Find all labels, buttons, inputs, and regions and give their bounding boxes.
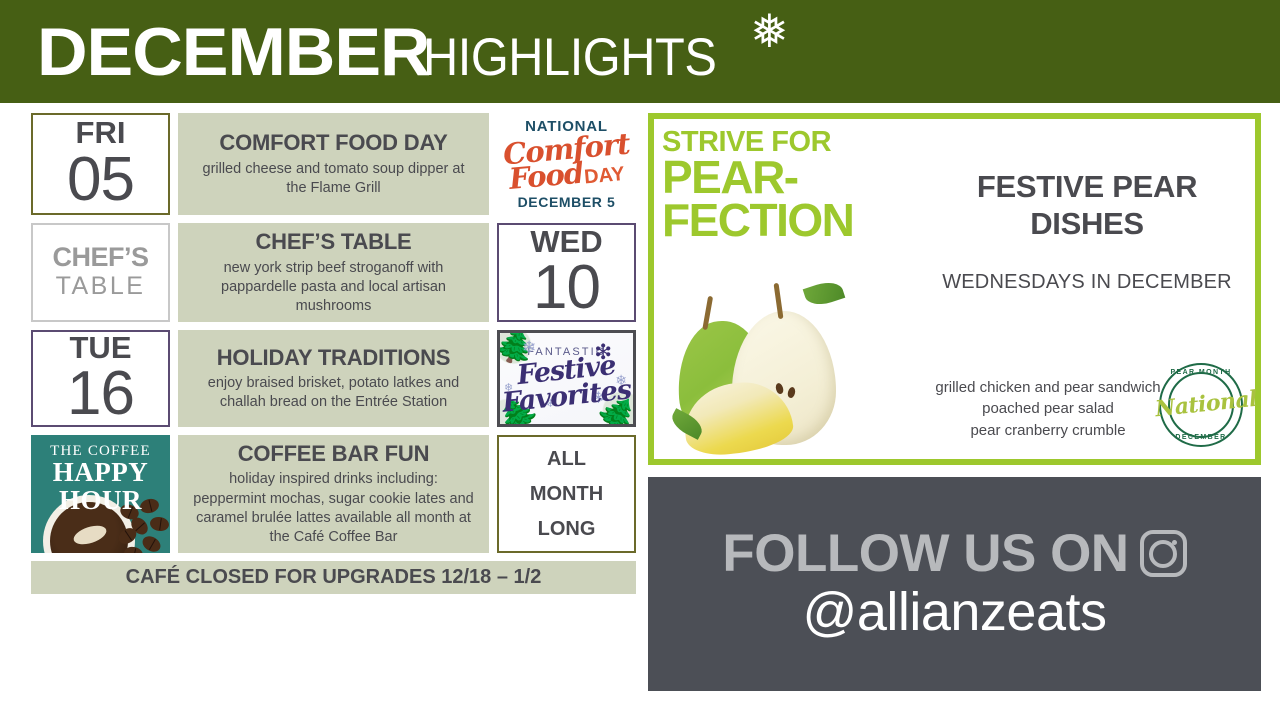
event-art-tile: THE COFFEE HAPPY HOUR <box>31 435 170 553</box>
event-art-tile: 🌲 🌲 🌲 ❄ ❇ ❄ ❄ ❄ ❄ FANTASTIC Festive Favo… <box>497 330 636 427</box>
event-title: COMFORT FOOD DAY <box>219 130 447 155</box>
logo-date-line: DECEMBER 5 <box>518 195 616 209</box>
all-month-line2: MONTH <box>530 477 603 512</box>
all-month-line1: ALL <box>547 442 586 477</box>
event-date-box: TUE 16 <box>31 330 170 427</box>
events-grid: FRI 05 COMFORT FOOD DAY grilled cheese a… <box>31 113 636 594</box>
instagram-handle[interactable]: @allianzeats <box>803 584 1107 641</box>
pear-seed <box>775 382 785 395</box>
event-date-box: WED 10 <box>497 223 636 322</box>
social-follow-panel[interactable]: FOLLOW US ON @allianzeats <box>648 477 1261 691</box>
event-day-number: 10 <box>533 258 600 319</box>
chefs-table-logo: CHEF’S TABLE <box>33 225 168 320</box>
logo-food-day-row: Food DAY <box>508 156 625 193</box>
instagram-icon[interactable] <box>1140 530 1187 577</box>
logo-script-food: Food <box>508 159 584 193</box>
all-month-long-text: ALL MONTH LONG <box>499 437 634 551</box>
event-day-number: 16 <box>67 364 134 425</box>
all-month-long-box: ALL MONTH LONG <box>497 435 636 553</box>
pear-dish-item: pear cranberry crumble <box>919 420 1177 441</box>
pear-copy-area: FESTIVE PEAR DISHES WEDNESDAYS IN DECEMB… <box>919 119 1255 459</box>
pear-fruit-image <box>670 277 905 455</box>
all-month-line3: LONG <box>538 512 596 547</box>
coffee-line3: HOUR <box>31 487 170 515</box>
logo-day-word: DAY <box>583 163 625 186</box>
page-title-month: DECEMBER <box>37 18 430 86</box>
event-detail: holiday inspired drinks including: peppe… <box>192 470 475 547</box>
cafe-closure-notice: CAFÉ CLOSED FOR UPGRADES 12/18 – 1/2 <box>31 561 636 594</box>
event-row: THE COFFEE HAPPY HOUR COFFEE BAR FU <box>31 435 636 553</box>
event-detail: new york strip beef stroganoff with papp… <box>192 259 475 316</box>
featured-promo-panel: STRIVE FOR PEAR- FECTION FESTIVE PEAR DI… <box>648 113 1261 465</box>
coffee-line2: HAPPY <box>31 459 170 487</box>
badge-bottom-text: DECEMBER <box>1155 434 1247 441</box>
page-header: DECEMBER HIGHLIGHTS ❅ <box>0 0 1280 103</box>
event-description-block: COMFORT FOOD DAY grilled cheese and toma… <box>178 113 489 215</box>
pear-title: FESTIVE PEAR DISHES <box>919 169 1255 242</box>
pear-dish-list: grilled chicken and pear sandwich poache… <box>919 377 1177 441</box>
event-detail: enjoy braised brisket, potato latkes and… <box>192 374 475 412</box>
comfort-food-day-logo: NATIONAL Comfort Food DAY DECEMBER 5 <box>497 113 636 215</box>
follow-us-line: FOLLOW US ON <box>722 527 1186 580</box>
pear-artwork-area: STRIVE FOR PEAR- FECTION <box>654 119 919 459</box>
pear-headline: STRIVE FOR PEAR- FECTION <box>662 129 919 243</box>
coffee-tile-text: THE COFFEE HAPPY HOUR <box>31 444 170 514</box>
event-description-block: CHEF’S TABLE new york strip beef strogan… <box>178 223 489 322</box>
event-title: COFFEE BAR FUN <box>238 441 430 466</box>
pear-headline-line3: FECTION <box>662 199 919 242</box>
leaf-icon <box>803 278 846 310</box>
pear-dish-item: poached pear salad <box>919 398 1177 419</box>
event-row: FRI 05 COMFORT FOOD DAY grilled cheese a… <box>31 113 636 215</box>
pear-title-line2: DISHES <box>919 206 1255 243</box>
chefs-logo-line1: CHEF’S <box>52 244 148 271</box>
event-title: CHEF’S TABLE <box>255 229 411 254</box>
badge-top-text: PEAR MONTH <box>1155 369 1247 376</box>
event-day-number: 05 <box>67 150 134 211</box>
event-description-block: HOLIDAY TRADITIONS enjoy braised brisket… <box>178 330 489 427</box>
header-title-group: DECEMBER HIGHLIGHTS ❅ <box>37 18 789 86</box>
event-art-tile: NATIONAL Comfort Food DAY DECEMBER 5 <box>497 113 636 215</box>
chefs-logo-line2: TABLE <box>56 273 146 301</box>
pear-seed <box>787 386 796 398</box>
event-title: HOLIDAY TRADITIONS <box>217 345 451 370</box>
event-detail: grilled cheese and tomato soup dipper at… <box>192 160 475 198</box>
national-pear-month-badge: PEAR MONTH National DECEMBER <box>1155 359 1247 451</box>
event-art-tile: CHEF’S TABLE <box>31 223 170 322</box>
event-description-block: COFFEE BAR FUN holiday inspired drinks i… <box>178 435 489 553</box>
coffee-happy-hour-tile: THE COFFEE HAPPY HOUR <box>31 435 170 553</box>
pear-headline-line2: PEAR- <box>662 156 919 199</box>
event-row: CHEF’S TABLE CHEF’S TABLE new york strip… <box>31 223 636 322</box>
follow-us-label: FOLLOW US ON <box>722 527 1128 580</box>
festive-favorites-tile: 🌲 🌲 🌲 ❄ ❇ ❄ ❄ ❄ ❄ FANTASTIC Festive Favo… <box>500 333 633 424</box>
pear-dish-item: grilled chicken and pear sandwich <box>919 377 1177 398</box>
event-row: TUE 16 HOLIDAY TRADITIONS enjoy braised … <box>31 330 636 427</box>
pear-title-line1: FESTIVE PEAR <box>919 169 1255 206</box>
event-date-box: FRI 05 <box>31 113 170 215</box>
pear-subtitle: WEDNESDAYS IN DECEMBER <box>919 271 1255 294</box>
page-title-highlights: HIGHLIGHTS <box>423 31 716 84</box>
snowflake-icon: ❅ <box>750 8 789 54</box>
